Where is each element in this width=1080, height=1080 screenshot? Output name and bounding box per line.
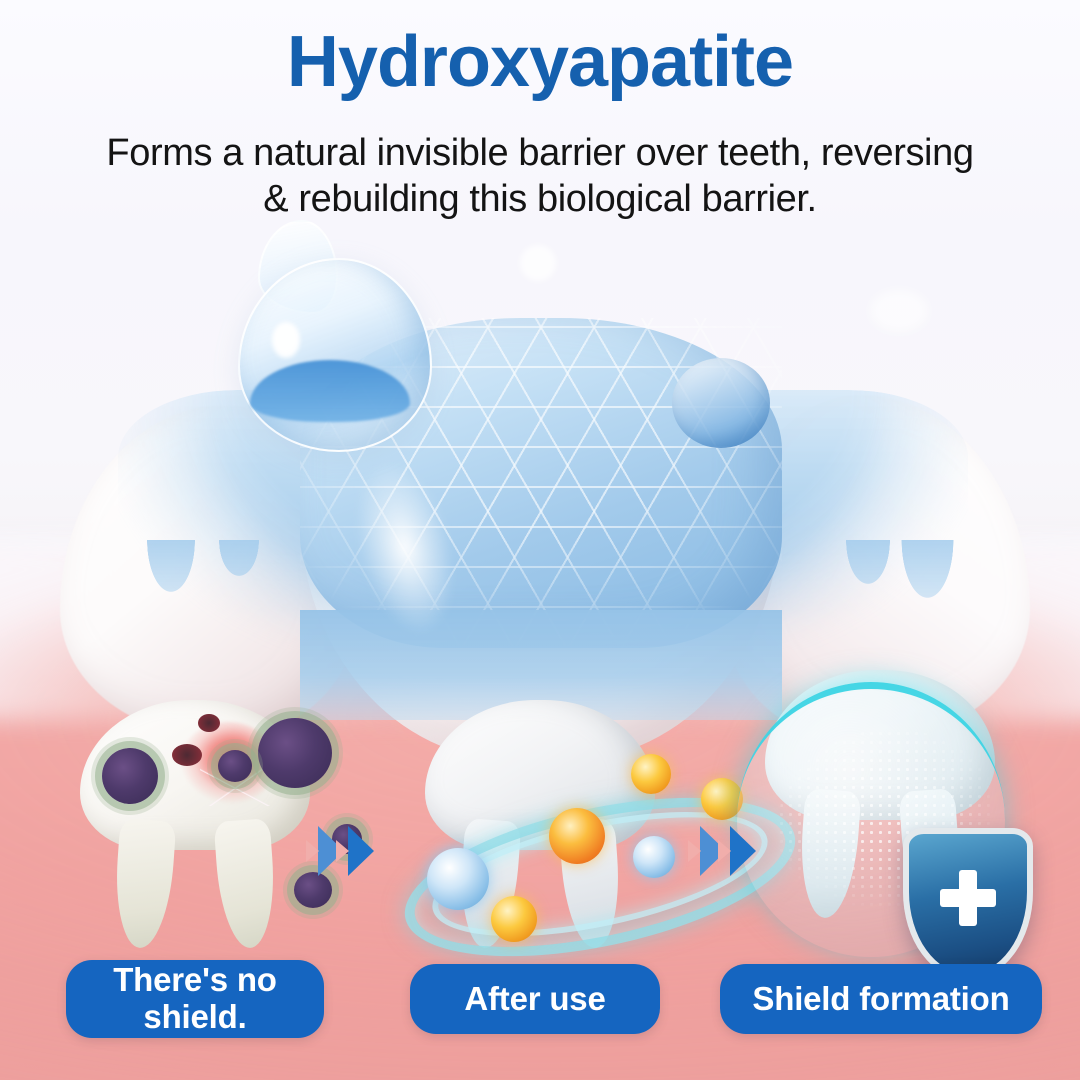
shield-badge-icon [903,828,1033,980]
label-pill-shield-formation: Shield formation [720,964,1042,1034]
bacteria-icon [218,750,252,782]
bacteria-icon [102,748,158,804]
blue-capsule-icon [427,848,489,910]
white-cross-icon [940,870,996,926]
cavity-spot-a [198,714,220,732]
tooth-root-right [214,818,279,950]
page-subtitle: Forms a natural invisible barrier over t… [40,130,1040,223]
subtitle-line-1: Forms a natural invisible barrier over t… [106,132,973,174]
step-no-shield [30,690,360,970]
poster-root: Hydroxyapatite Forms a natural invisible… [0,0,1080,1080]
chevron-notch [688,840,701,862]
label-pill-after-use: After use [410,964,660,1034]
bacteria-icon [258,718,332,788]
droplet-specular-highlight [272,322,300,358]
decayed-tooth-icon [80,700,310,950]
chevron-notch [306,840,319,862]
label-pill-no-shield: There's no shield. [66,960,324,1038]
arrow-step1-to-step2 [318,822,388,880]
blue-capsule-icon [633,836,675,878]
chevron-notch [336,840,349,862]
cavity-spot-b [172,744,202,766]
blue-bubble [672,358,770,448]
pill1-line1: There's no [113,961,277,998]
mist-droplet-b [870,290,928,332]
gold-capsule-icon [491,896,537,942]
mist-droplet-a [520,245,556,281]
step-after-use [375,690,705,970]
arrow-step2-to-step3 [700,822,770,880]
step-shield-formation [715,660,1045,940]
label-pill-no-shield-text: There's no shield. [113,962,277,1036]
mineral-molecule-icon [549,808,605,864]
chevron-right-icon [730,826,756,876]
chevron-notch [718,840,731,862]
hero-tooth-illustration [0,210,1080,730]
page-title: Hydroxyapatite [0,26,1080,99]
gold-capsule-icon [631,754,671,794]
pill1-line2: shield. [143,998,246,1035]
tooth-root-left [112,818,177,950]
chevron-right-icon [348,826,374,876]
protected-tooth-icon [425,700,655,950]
